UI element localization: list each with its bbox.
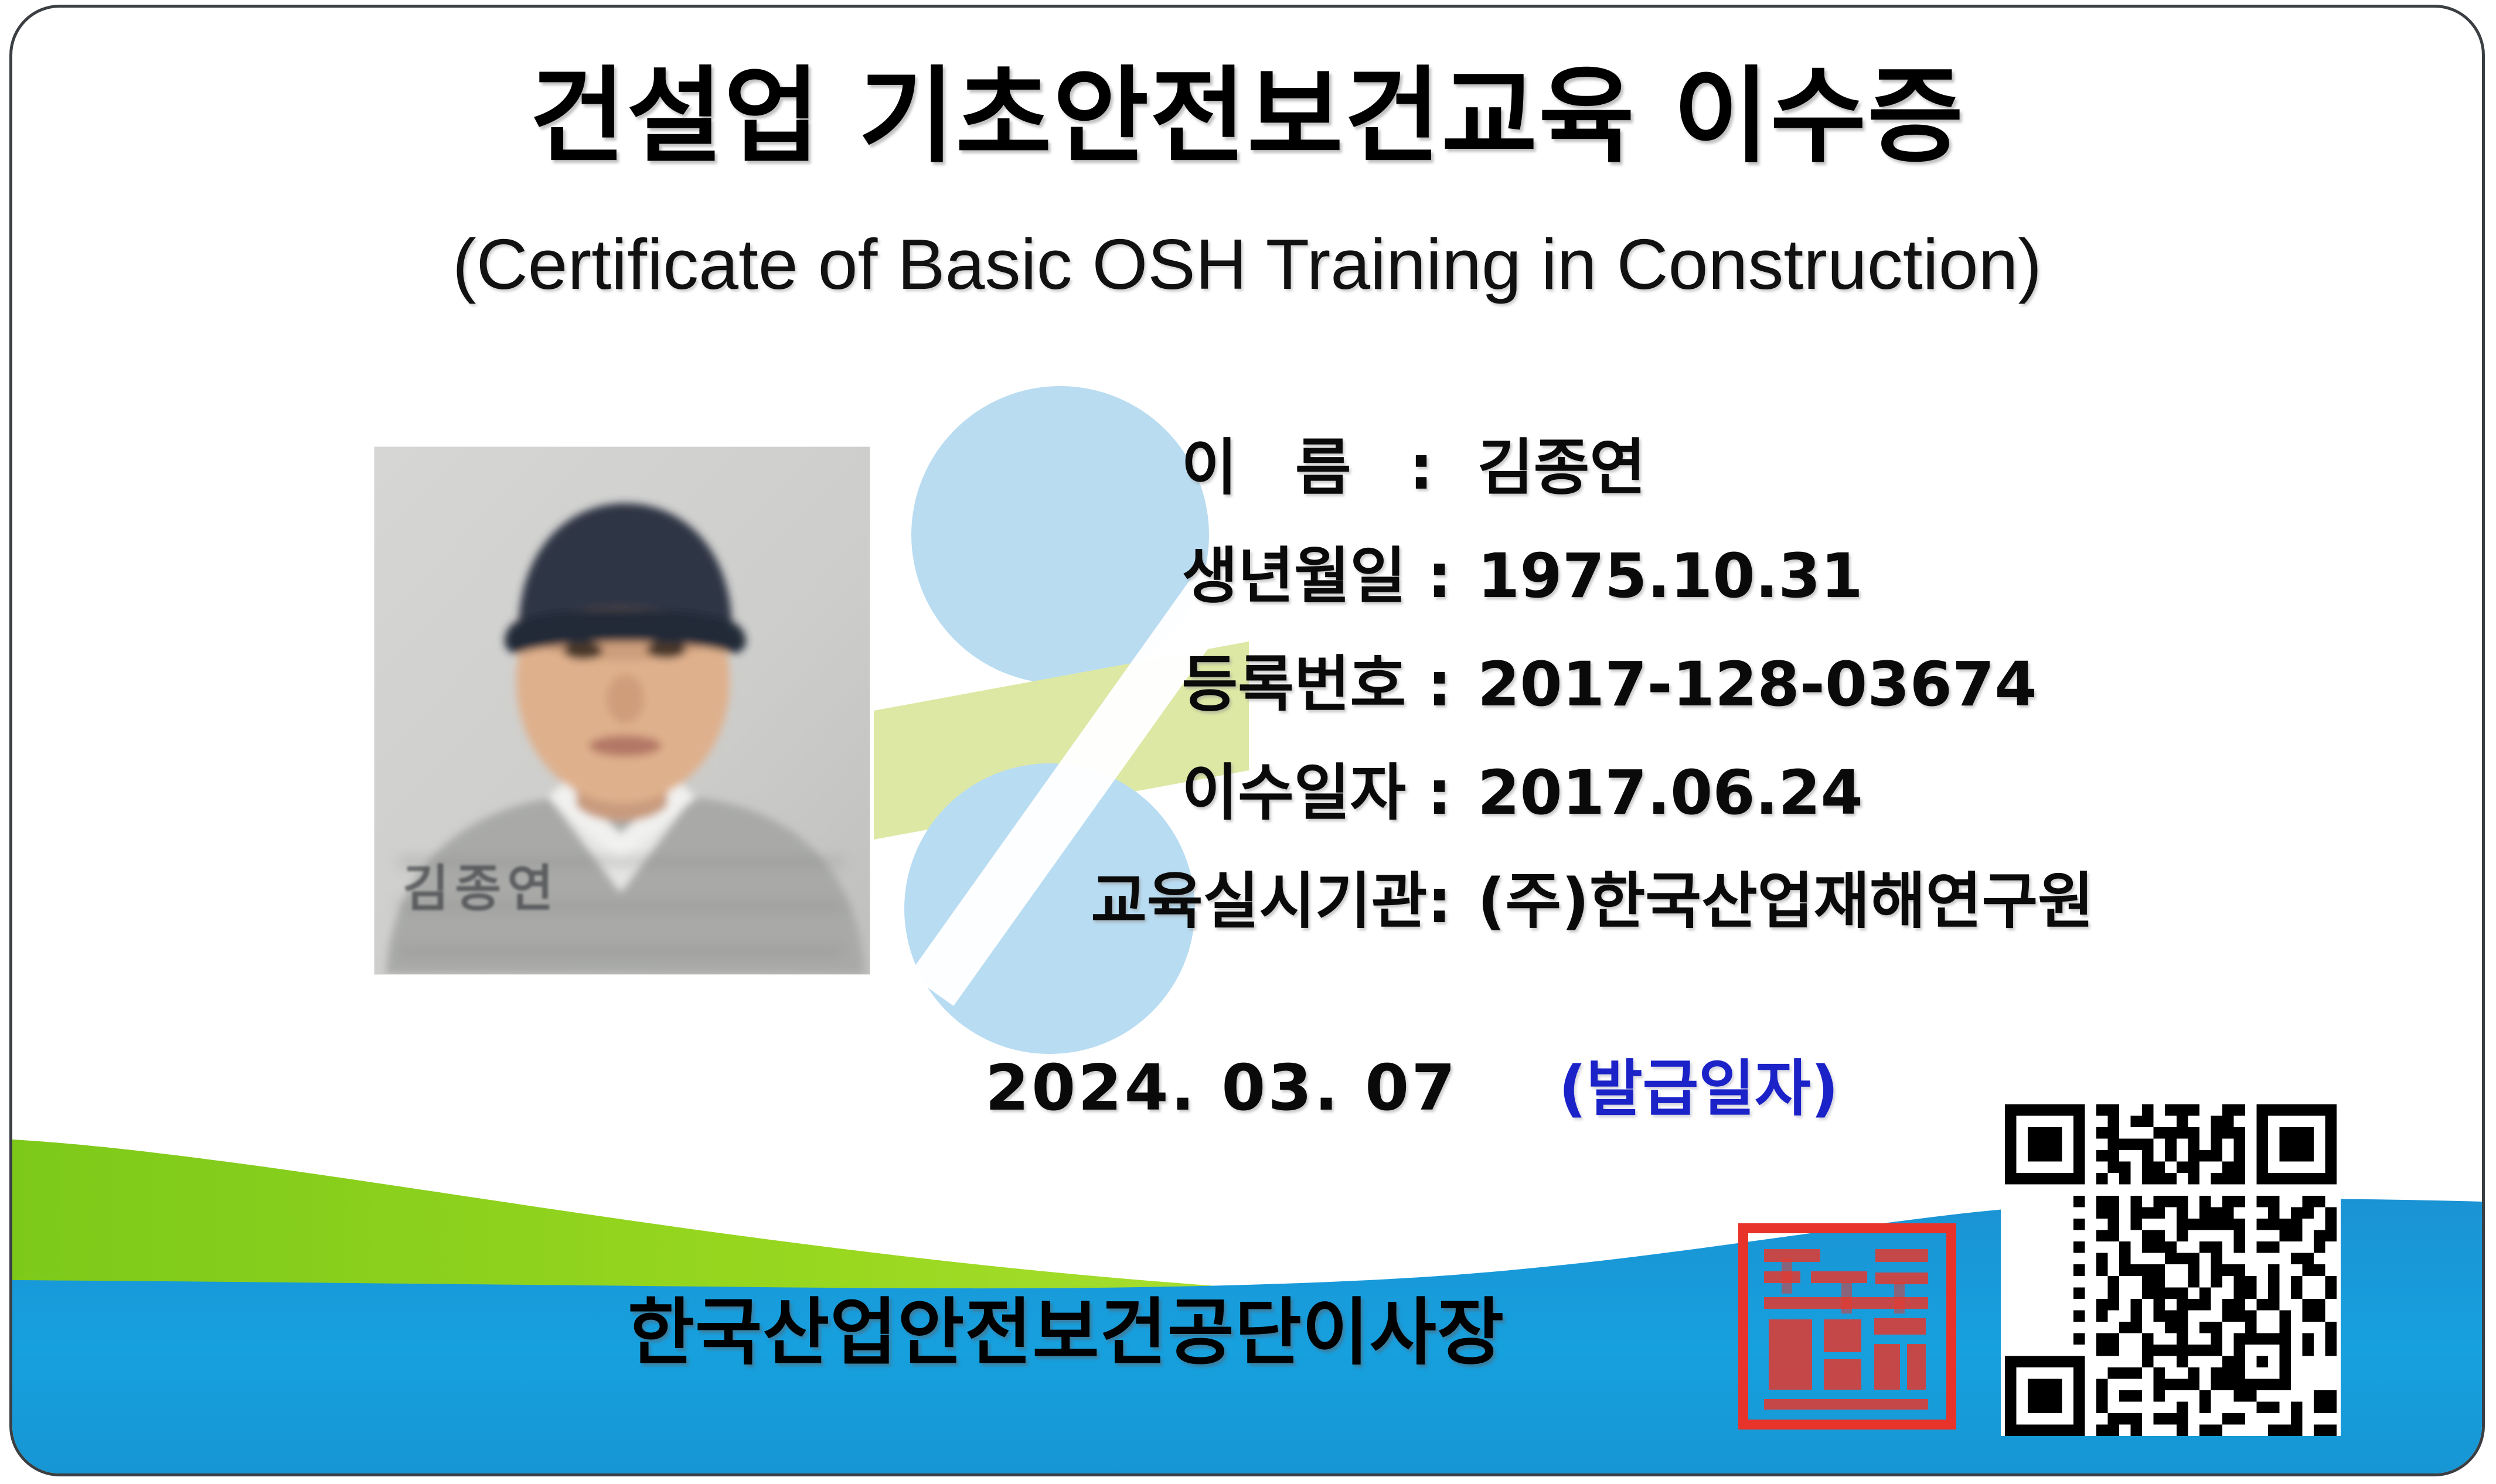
field-value-completion-date: 2017.06.24 (1460, 757, 1863, 828)
certificate-title-ko: 건설업 기초안전보건교육 이수증 (12, 32, 2482, 183)
issue-date-label: (발급일자) (1558, 1039, 1838, 1127)
field-row-registration-number: 등록번호 : 2017-128-03674 (985, 634, 2409, 723)
field-value-institution: (주)한국산업재해연구원 (1460, 851, 2094, 940)
issue-date-value: 2024. 03. 07 (985, 1052, 1458, 1125)
field-value-birthdate: 1975.10.31 (1460, 540, 1863, 612)
field-label-name: 이 름 : (985, 418, 1460, 506)
field-label-institution: 교육실시기관: (985, 851, 1460, 940)
photo-watermark-text: 김종연 (403, 847, 559, 920)
field-value-registration-number: 2017-128-03674 (1460, 649, 2037, 720)
field-value-name: 김종연 (1460, 418, 1646, 506)
certificate-card: 건설업 기초안전보건교육 이수증 (Certificate of Basic O… (9, 5, 2485, 1476)
holder-photo: 김종연 (374, 447, 870, 974)
certificate-title-en: (Certificate of Basic OSH Training in Co… (12, 223, 2482, 305)
official-seal-icon (1738, 1223, 1956, 1430)
field-label-registration-number: 등록번호 : (985, 634, 1460, 723)
issue-date-row: 2024. 03. 07 (발급일자) (985, 1039, 1838, 1127)
certificate-fields: 이 름 : 김종연 생년월일 : 1975.10.31 등록번호 : 2017-… (985, 418, 2409, 960)
qr-code-icon[interactable] (2001, 1104, 2341, 1436)
issuer-signature-text: 한국산업안전보건공단이사장 (628, 1273, 1504, 1379)
field-row-institution: 교육실시기관: (주)한국산업재해연구원 (985, 851, 2409, 940)
field-label-completion-date: 이수일자 : (985, 743, 1460, 831)
field-row-name: 이 름 : 김종연 (985, 418, 2409, 506)
field-row-birthdate: 생년월일 : 1975.10.31 (985, 526, 2409, 615)
field-label-birthdate: 생년월일 : (985, 526, 1460, 615)
field-row-completion-date: 이수일자 : 2017.06.24 (985, 743, 2409, 831)
